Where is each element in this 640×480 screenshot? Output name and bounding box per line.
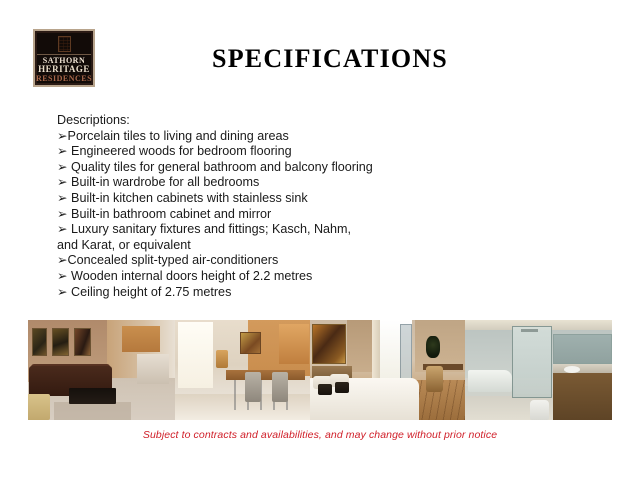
- spec-bullet-6-continuation: and Karat, or equivalent: [57, 238, 497, 254]
- dining-chair-2: [272, 372, 288, 402]
- bullet-list: ➢Porcelain tiles to living and dining ar…: [57, 129, 497, 301]
- specifications-list: Descriptions: ➢Porcelain tiles to living…: [57, 113, 497, 300]
- bedroom-desk-chair: [426, 366, 443, 392]
- spec-bullet-6: ➢ Luxury sanitary fixtures and fittings;…: [57, 222, 497, 238]
- dining-window: [178, 322, 213, 388]
- bedroom-plant: [426, 336, 440, 358]
- logo-line-residences: RESIDENCES: [36, 75, 92, 83]
- living-wall-art-3: [74, 328, 92, 356]
- spec-bullet-1: ➢ Engineered woods for bedroom flooring: [57, 144, 497, 160]
- spec-bullet-2: ➢ Quality tiles for general bathroom and…: [57, 160, 497, 176]
- dining-wall-cabinet: [279, 324, 309, 364]
- bathroom-vanity-cabinet: [553, 373, 612, 420]
- bedroom-back-wall: [347, 320, 375, 372]
- living-wall-art-2: [52, 328, 70, 356]
- photo-bathroom: [465, 320, 612, 420]
- spec-bullet-4: ➢ Built-in kitchen cabinets with stainle…: [57, 191, 497, 207]
- photo-dining-area: [175, 320, 310, 420]
- spec-bullet-8: ➢ Wooden internal doors height of 2.2 me…: [57, 269, 497, 285]
- logo-divider: [37, 54, 91, 55]
- bathroom-bathtub: [468, 370, 512, 392]
- bathroom-shower-head: [521, 329, 539, 332]
- bathroom-toilet: [530, 400, 549, 420]
- photo-bedroom: [310, 320, 465, 420]
- dining-table: [226, 370, 304, 380]
- slide-canvas: { "logo": { "line1": "SATHORN", "line2":…: [0, 0, 640, 480]
- bedroom-cushion-2: [335, 382, 349, 393]
- logo-inner: SATHORN HERITAGE RESIDENCES: [37, 33, 91, 83]
- bedroom-wall-art: [312, 324, 346, 364]
- bathroom-basin: [564, 366, 580, 373]
- spec-bullet-7: ➢Concealed split-typed air-conditioners: [57, 253, 497, 269]
- living-wall-art-1: [32, 328, 47, 356]
- spec-bullet-9: ➢ Ceiling height of 2.75 metres: [57, 285, 497, 301]
- spec-bullet-0: ➢Porcelain tiles to living and dining ar…: [57, 129, 497, 145]
- living-armchair: [28, 394, 50, 420]
- dining-wall-art: [240, 332, 262, 354]
- tower-building-icon: [58, 36, 71, 52]
- photo-living-room: [28, 320, 175, 420]
- living-coffee-table: [69, 388, 116, 404]
- photo-strip: [28, 320, 612, 420]
- descriptions-label: Descriptions:: [57, 113, 497, 129]
- living-upper-cabinet: [122, 326, 160, 352]
- company-logo: SATHORN HERITAGE RESIDENCES: [33, 29, 95, 87]
- disclaimer-text: Subject to contracts and availabilities,…: [0, 429, 640, 441]
- bathroom-mirror: [553, 334, 612, 364]
- spec-bullet-3: ➢ Built-in wardrobe for all bedrooms: [57, 175, 497, 191]
- living-rug: [54, 402, 130, 420]
- dining-chair-1: [245, 372, 261, 402]
- bedroom-cushion-1: [318, 384, 332, 395]
- bedroom-balcony-door: [400, 324, 412, 380]
- page-title: SPECIFICATIONS: [120, 44, 540, 74]
- bedroom-curtain: [372, 320, 380, 382]
- bathroom-vanity-top: [553, 364, 612, 373]
- bathroom-glass-shower: [512, 326, 552, 398]
- living-kitchen-area: [137, 354, 169, 384]
- spec-bullet-5: ➢ Built-in bathroom cabinet and mirror: [57, 207, 497, 223]
- dining-floor-lamp: [216, 350, 228, 368]
